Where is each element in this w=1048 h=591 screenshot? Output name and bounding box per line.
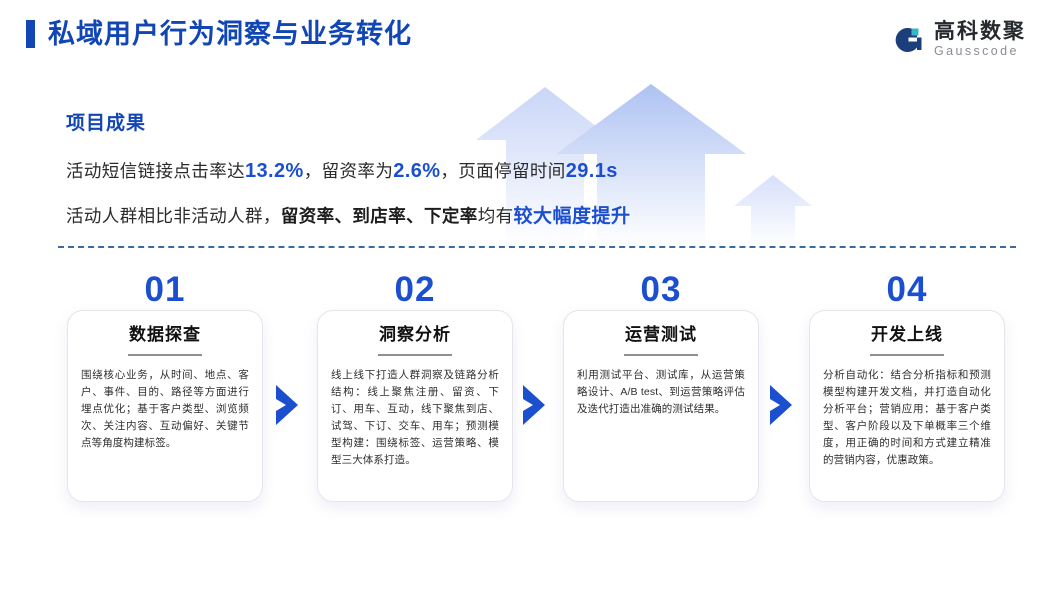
results-line2-seg2: 均有 (478, 206, 514, 226)
results-line-2: 活动人群相比非活动人群，留资率、到店率、下定率均有较大幅度提升 (66, 201, 926, 228)
results-line2-highlight: 较大幅度提升 (514, 206, 631, 227)
page-title-wrap: 私域用户行为洞察与业务转化 (26, 20, 412, 48)
step-card-02[interactable]: 洞察分析 线上线下打造人群洞察及链路分析结构：线上聚焦注册、留资、下订、用车、互… (317, 310, 513, 502)
step-card-03[interactable]: 运营测试 利用测试平台、测试库，从运营策略设计、A/B test、到运营策略评估… (563, 310, 759, 502)
title-bullet-icon (26, 20, 35, 48)
brand-logo: 高科数聚 Gausscode (891, 18, 1026, 62)
brand-name-cn: 高科数聚 (934, 21, 1026, 43)
step-rule-03 (624, 354, 698, 356)
results-line2-bold: 留资率、到店率、下定率 (281, 206, 478, 226)
step-rule-04 (870, 354, 944, 356)
brand-logo-text: 高科数聚 Gausscode (934, 21, 1026, 59)
metric-click-rate: 13.2% (245, 160, 304, 182)
page-header: 私域用户行为洞察与业务转化 高科数聚 Gausscode (0, 0, 1048, 78)
step-rule-01 (128, 354, 202, 356)
results-line2-seg1: 活动人群相比非活动人群， (66, 206, 281, 226)
step-title-03: 运营测试 (564, 326, 758, 343)
results-line1-seg2: ，留资率为 (304, 161, 394, 181)
results-line-1: 活动短信链接点击率达13.2%，留资率为2.6%，页面停留时间29.1s (66, 158, 926, 183)
step-card-04[interactable]: 开发上线 分析自动化：结合分析指标和预测模型构建开发文档，并打造自动化分析平台；… (809, 310, 1005, 502)
step-number-02: 02 (317, 272, 513, 307)
step-card-01[interactable]: 数据探查 围绕核心业务，从时间、地点、客户、事件、目的、路径等方面进行埋点优化；… (67, 310, 263, 502)
page-title: 私域用户行为洞察与业务转化 (48, 21, 412, 48)
step-number-03: 03 (563, 272, 759, 307)
step-title-02: 洞察分析 (318, 326, 512, 343)
flow-step-04[interactable]: 04 开发上线 分析自动化：结合分析指标和预测模型构建开发文档，并打造自动化分析… (809, 272, 1005, 522)
results-line1-seg1: 活动短信链接点击率达 (66, 161, 245, 181)
chevron-right-icon-1 (274, 385, 300, 425)
step-body-01: 围绕核心业务，从时间、地点、客户、事件、目的、路径等方面进行埋点优化；基于客户类… (81, 367, 249, 452)
flow-step-01[interactable]: 01 数据探查 围绕核心业务，从时间、地点、客户、事件、目的、路径等方面进行埋点… (67, 272, 263, 522)
flow-step-02[interactable]: 02 洞察分析 线上线下打造人群洞察及链路分析结构：线上聚焦注册、留资、下订、用… (317, 272, 513, 522)
step-body-02: 线上线下打造人群洞察及链路分析结构：线上聚焦注册、留资、下订、用车、互动，线下聚… (331, 367, 499, 469)
results-line1-seg3: ，页面停留时间 (440, 161, 565, 181)
step-title-01: 数据探查 (68, 326, 262, 343)
section-divider (58, 246, 1016, 248)
flow-step-03[interactable]: 03 运营测试 利用测试平台、测试库，从运营策略设计、A/B test、到运营策… (563, 272, 759, 522)
chevron-right-icon-3 (768, 385, 794, 425)
project-results: 项目成果 活动短信链接点击率达13.2%，留资率为2.6%，页面停留时间29.1… (66, 108, 926, 246)
chevron-right-icon-2 (521, 385, 547, 425)
step-title-04: 开发上线 (810, 326, 1004, 343)
step-body-04: 分析自动化：结合分析指标和预测模型构建开发文档，并打造自动化分析平台；营销应用：… (823, 367, 991, 469)
brand-name-en: Gausscode (934, 44, 1026, 59)
step-number-01: 01 (67, 272, 263, 307)
results-heading: 项目成果 (66, 108, 926, 135)
step-body-03: 利用测试平台、测试库，从运营策略设计、A/B test、到运营策略评估及迭代打造… (577, 367, 745, 418)
step-number-04: 04 (809, 272, 1005, 307)
step-rule-02 (378, 354, 452, 356)
metric-dwell-time: 29.1s (566, 160, 618, 182)
metric-lead-rate: 2.6% (393, 160, 440, 182)
gausscode-logo-icon (891, 23, 925, 57)
